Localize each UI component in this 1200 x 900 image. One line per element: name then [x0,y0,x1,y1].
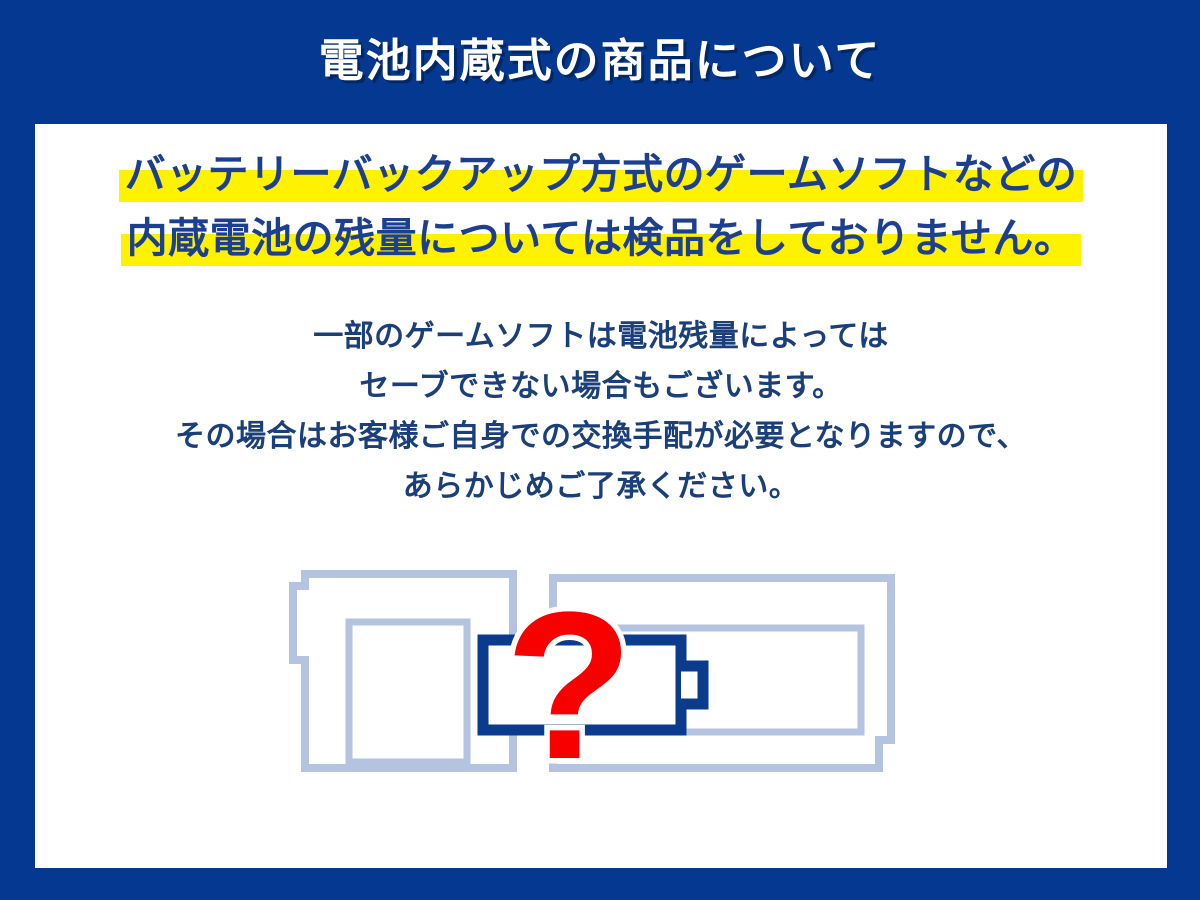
headline-line-1-text: バッテリーバックアップ方式のゲームソフトなどの [125,151,1078,197]
content-card: バッテリーバックアップ方式のゲームソフトなどの 内蔵電池の残量については検品をし… [35,124,1167,868]
headline-line-1-wrap: バッテリーバックアップ方式のゲームソフトなどの [35,142,1167,206]
headline-line-2-wrap: 内蔵電池の残量については検品をしておりません。 [35,206,1167,270]
headline-line-2-text: 内蔵電池の残量については検品をしておりません。 [127,215,1076,261]
headline-block: バッテリーバックアップ方式のゲームソフトなどの 内蔵電池の残量については検品をし… [35,142,1167,270]
body-line-1: 一部のゲームソフトは電池残量によっては [35,312,1167,362]
body-paragraph: 一部のゲームソフトは電池残量によっては セーブできない場合もございます。 その場… [35,312,1167,512]
footer-band [0,868,1200,900]
poster-root: 電池内蔵式の商品について バッテリーバックアップ方式のゲームソフトなどの 内蔵電… [0,0,1200,900]
headline-line-2: 内蔵電池の残量については検品をしておりません。 [127,206,1076,270]
battery-illustration: ? [35,544,1167,844]
header-band: 電池内蔵式の商品について [0,0,1200,124]
headline-line-1: バッテリーバックアップ方式のゲームソフトなどの [125,142,1078,206]
body-line-4: あらかじめご了承ください。 [35,462,1167,512]
body-line-2: セーブできない場合もございます。 [35,362,1167,412]
illustration-svg: ? [281,544,921,804]
page-title: 電池内蔵式の商品について [319,38,882,87]
question-mark-icon: ? [505,568,633,803]
body-line-3: その場合はお客様ご自身での交換手配が必要となりますので、 [35,412,1167,462]
question-mark-glyph: ? [505,568,633,803]
